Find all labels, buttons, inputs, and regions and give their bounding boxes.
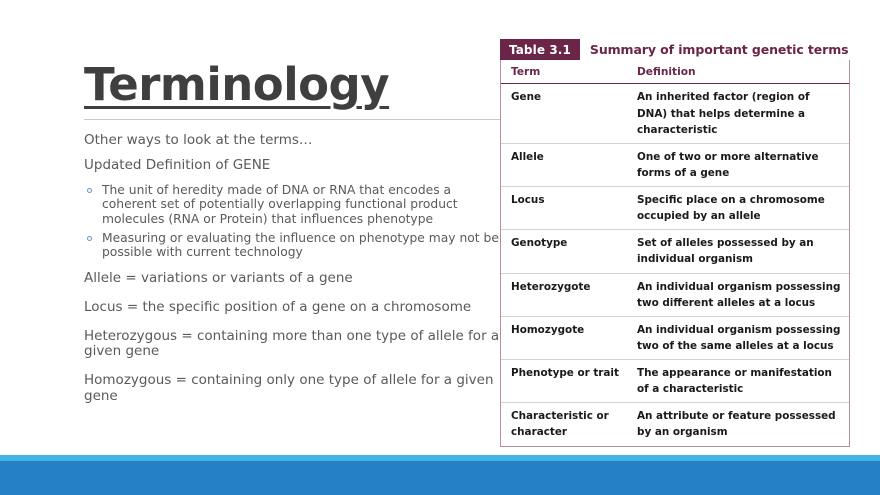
table-body: Gene An inherited factor (region of DNA)…	[501, 84, 849, 446]
genetic-terms-table: Term Definition Gene An inherited factor…	[501, 60, 849, 446]
slide-canvas: Terminology Other ways to look at the te…	[0, 0, 880, 495]
table-border-box: Term Definition Gene An inherited factor…	[500, 60, 850, 447]
cell-definition: An attribute or feature possessed by an …	[627, 403, 849, 446]
column-header-definition: Definition	[627, 60, 849, 84]
definition-heterozygous: Heterozygous = containing more than one …	[84, 329, 502, 361]
genetic-terms-table-panel: Table 3.1 Summary of important genetic t…	[500, 39, 850, 447]
slide-content-column: Terminology Other ways to look at the te…	[84, 62, 502, 418]
gene-definition-bullet-list: The unit of heredity made of DNA or RNA …	[84, 183, 502, 260]
cell-definition: Set of alleles possessed by an individua…	[627, 230, 849, 273]
cell-term: Genotype	[501, 230, 627, 273]
list-item-label: The unit of heredity made of DNA or RNA …	[102, 183, 458, 226]
table-row: Homozygote An individual organism posses…	[501, 316, 849, 359]
table-caption-text: Summary of important genetic terms	[580, 39, 849, 60]
table-header-row: Term Definition	[501, 60, 849, 84]
table-caption: Table 3.1 Summary of important genetic t…	[500, 39, 850, 60]
cell-term: Locus	[501, 187, 627, 230]
gene-definition-heading: Updated Definition of GENE	[84, 158, 502, 174]
table-row: Characteristic or character An attribute…	[501, 403, 849, 446]
definition-locus: Locus = the specific position of a gene …	[84, 300, 502, 316]
column-header-term: Term	[501, 60, 627, 84]
list-item: Measuring or evaluating the influence on…	[84, 231, 502, 260]
cell-term: Homozygote	[501, 316, 627, 359]
cell-definition: An individual organism possessing two di…	[627, 273, 849, 316]
cell-definition: The appearance or manifestation of a cha…	[627, 360, 849, 403]
body-text-block: Other ways to look at the terms… Updated…	[84, 133, 502, 405]
hollow-circle-bullet-icon	[87, 236, 92, 241]
intro-paragraph: Other ways to look at the terms…	[84, 133, 502, 149]
list-item-label: Measuring or evaluating the influence on…	[102, 231, 499, 259]
table-row: Phenotype or trait The appearance or man…	[501, 360, 849, 403]
cell-definition: An inherited factor (region of DNA) that…	[627, 84, 849, 143]
cell-term: Characteristic or character	[501, 403, 627, 446]
table-row: Allele One of two or more alternative fo…	[501, 143, 849, 186]
table-row: Locus Specific place on a chromosome occ…	[501, 187, 849, 230]
cell-definition: One of two or more alternative forms of …	[627, 143, 849, 186]
cell-definition: An individual organism possessing two of…	[627, 316, 849, 359]
table-number-badge: Table 3.1	[500, 39, 580, 60]
page-title: Terminology	[84, 62, 502, 107]
table-row: Gene An inherited factor (region of DNA)…	[501, 84, 849, 143]
table-row: Heterozygote An individual organism poss…	[501, 273, 849, 316]
cell-term: Gene	[501, 84, 627, 143]
table-row: Genotype Set of alleles possessed by an …	[501, 230, 849, 273]
cell-definition: Specific place on a chromosome occupied …	[627, 187, 849, 230]
definition-homozygous: Homozygous = containing only one type of…	[84, 373, 502, 405]
cell-term: Allele	[501, 143, 627, 186]
definition-allele: Allele = variations or variants of a gen…	[84, 271, 502, 287]
table-head: Term Definition	[501, 60, 849, 84]
hollow-circle-bullet-icon	[87, 188, 92, 193]
cell-term: Phenotype or trait	[501, 360, 627, 403]
title-divider	[84, 119, 500, 120]
bottom-footer-band	[0, 461, 880, 495]
list-item: The unit of heredity made of DNA or RNA …	[84, 183, 502, 226]
cell-term: Heterozygote	[501, 273, 627, 316]
